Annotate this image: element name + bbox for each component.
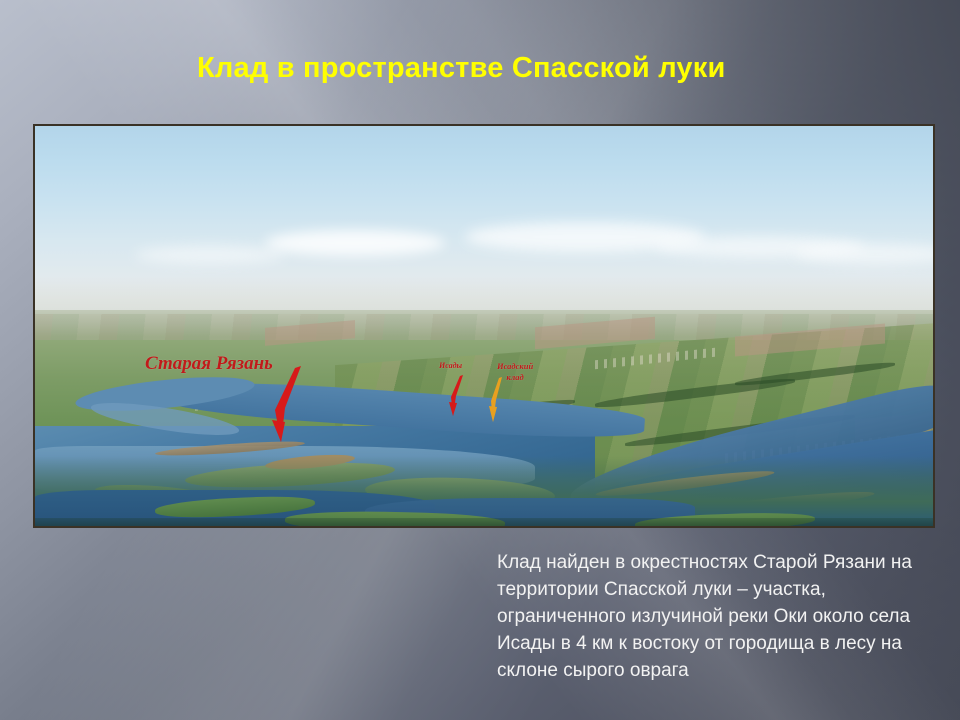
annotation-label-line2: клад xyxy=(506,372,523,382)
foreground-shadow xyxy=(35,518,933,526)
arrow-icon-isady xyxy=(447,374,465,418)
cloud xyxy=(265,230,445,256)
aerial-photo: Старая Рязань Исады Исадскийклад xyxy=(33,124,935,528)
page-title: Клад в пространстве Спасской луки xyxy=(197,52,897,85)
body-paragraph: Клад найден в окрестностях Старой Рязани… xyxy=(497,549,939,684)
slide-canvas: Клад в пространстве Спасской луки xyxy=(0,0,960,720)
annotation-label-isady: Исады xyxy=(439,361,462,370)
cloud xyxy=(135,246,285,264)
aerial-photo-image: Старая Рязань Исады Исадскийклад xyxy=(35,126,933,526)
annotation-label-line1: Исадский xyxy=(497,361,533,371)
arrow-icon-isadsky-klad xyxy=(487,376,505,424)
annotation-label-staraya-ryazan: Старая Рязань xyxy=(145,353,273,375)
arrow-icon-staraya-ryazan xyxy=(261,364,303,446)
